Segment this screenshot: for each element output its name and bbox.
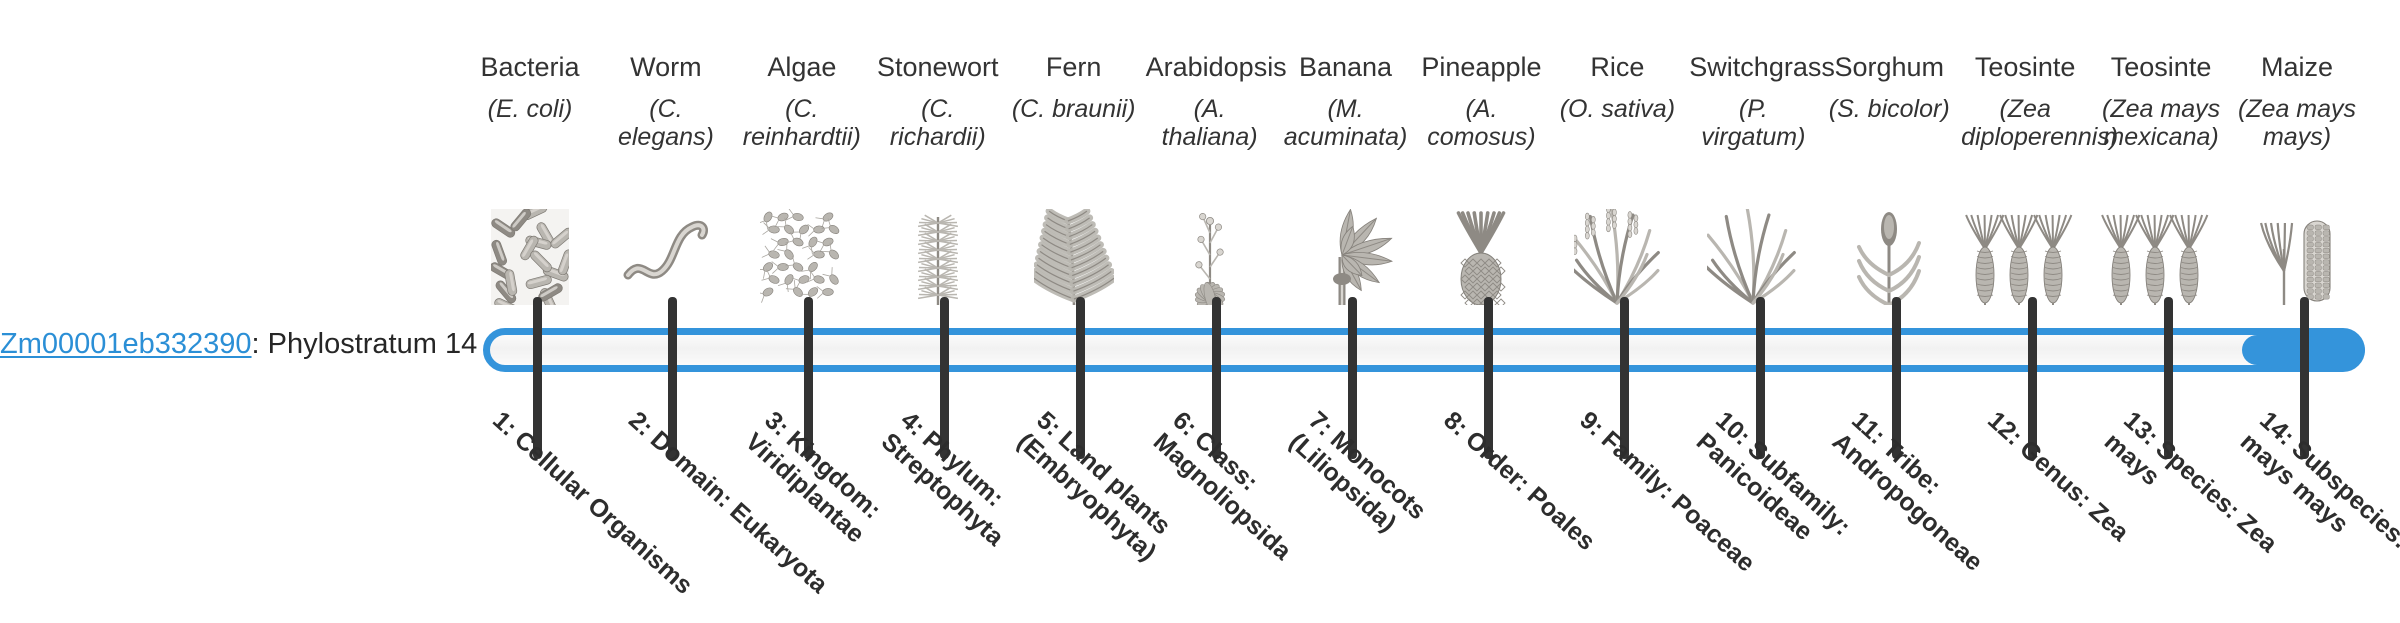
rice-plant-icon: [1574, 205, 1660, 305]
organism-scientific-name: (C. richardii): [874, 95, 1002, 151]
sorghum-panicle-icon: [1853, 205, 1925, 305]
organism-column: Teosinte(Zea diploperennis): [1961, 52, 2089, 307]
organism-column: Pineapple(A. comosus): [1417, 52, 1545, 307]
organism-column: Sorghum(S. bicolor): [1825, 52, 1953, 307]
gene-id-link[interactable]: Zm00001eb332390: [0, 328, 252, 360]
organism-scientific-name: (O. sativa): [1553, 95, 1681, 123]
organism-column: Arabidopsis(A. thaliana): [1146, 52, 1274, 307]
organism-common-name: Worm: [602, 52, 730, 83]
organism-column: Teosinte(Zea mays mexicana): [2097, 52, 2225, 307]
switchgrass-clump-icon: [1707, 205, 1799, 305]
fern-frond-icon: [1034, 205, 1114, 305]
gene-phylostratum-label: Zm00001eb332390: Phylostratum 14: [0, 327, 452, 361]
organism-common-name: Banana: [1282, 52, 1410, 83]
organism-scientific-name: (M. acuminata): [1282, 95, 1410, 151]
organism-common-name: Teosinte: [2097, 52, 2225, 83]
phylostratum-figure: Zm00001eb332390: Phylostratum 14 Bacteri…: [0, 0, 2400, 580]
organism-scientific-name: (P. virgatum): [1689, 95, 1817, 151]
organism-scientific-name: (Zea diploperennis): [1961, 95, 2089, 151]
organism-common-name: Bacteria: [466, 52, 594, 83]
organism-column: Worm(C. elegans): [602, 52, 730, 307]
organism-column: Maize(Zea mays mays): [2233, 52, 2361, 307]
nematode-worm-icon: [618, 205, 714, 305]
organism-common-name: Arabidopsis: [1146, 52, 1274, 83]
bacteria-rods-icon: [491, 205, 569, 305]
organism-column: Switchgrass(P. virgatum): [1689, 52, 1817, 307]
organism-scientific-name: (A. comosus): [1417, 95, 1545, 151]
organism-common-name: Teosinte: [1961, 52, 2089, 83]
timeline-track[interactable]: [483, 328, 2365, 372]
teosinte-ears-icon: [1963, 205, 2087, 305]
organism-common-name: Sorghum: [1825, 52, 1953, 83]
organism-common-name: Maize: [2233, 52, 2361, 83]
organism-common-name: Fern: [1010, 52, 1138, 83]
organism-column: Algae(C. reinhardtii): [738, 52, 866, 307]
organism-scientific-name: (E. coli): [466, 95, 594, 123]
organism-common-name: Rice: [1553, 52, 1681, 83]
phylostratum-timeline[interactable]: [483, 328, 2365, 372]
gene-label-separator: :: [252, 328, 268, 360]
organism-scientific-name: (S. bicolor): [1825, 95, 1953, 123]
banana-plant-icon: [1298, 205, 1394, 305]
organism-column: Bacteria(E. coli): [466, 52, 594, 307]
organism-scientific-name: (C. reinhardtii): [738, 95, 866, 151]
organism-common-name: Stonewort: [874, 52, 1002, 83]
organism-scientific-name: (C. braunii): [1010, 95, 1138, 123]
phylostratum-value: Phylostratum 14: [268, 328, 478, 360]
algae-cells-icon: [760, 205, 844, 305]
organism-column-strip: Bacteria(E. coli)Worm(C. elegans)Algae(C…: [462, 52, 2342, 307]
rank-number: 12:: [1982, 406, 2028, 451]
organism-scientific-name: (Zea mays mexicana): [2097, 95, 2225, 151]
organism-column: Fern(C. braunii): [1010, 52, 1138, 307]
organism-column: Stonewort(C. richardii): [874, 52, 1002, 307]
rank-name: Order: Poales: [1460, 426, 1601, 557]
organism-common-name: Algae: [738, 52, 866, 83]
organism-column: Rice(O. sativa): [1553, 52, 1681, 307]
organism-scientific-name: (A. thaliana): [1146, 95, 1274, 151]
organism-column: Banana(M. acuminata): [1282, 52, 1410, 307]
teosinte-mexicana-ears-icon: [2099, 205, 2223, 305]
pineapple-fruit-icon: [1445, 205, 1517, 305]
arabidopsis-rosette-icon: [1170, 205, 1250, 305]
organism-scientific-name: (Zea mays mays): [2233, 95, 2361, 151]
organism-common-name: Pineapple: [1417, 52, 1545, 83]
maize-ear-icon: [2258, 205, 2336, 305]
organism-scientific-name: (C. elegans): [602, 95, 730, 151]
organism-common-name: Switchgrass: [1689, 52, 1817, 83]
stonewort-alga-icon: [902, 205, 974, 305]
